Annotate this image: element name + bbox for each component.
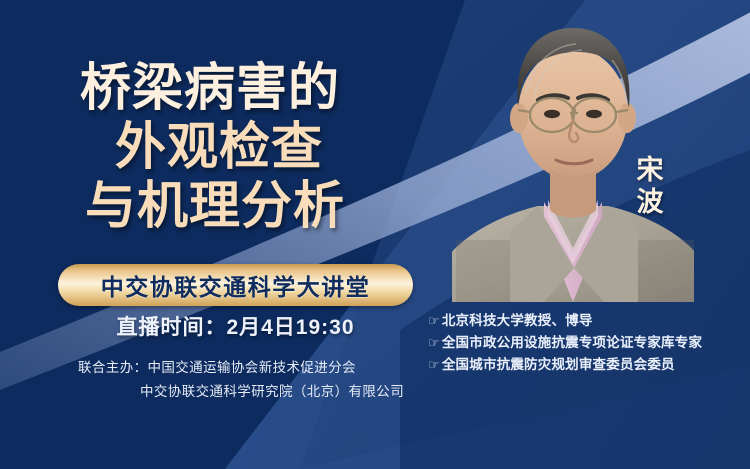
speaker-credentials: ☞ 北京科技大学教授、博导 ☞ 全国市政公用设施抗震专项论证专家库专家 ☞ 全国…	[428, 310, 746, 376]
credential-item: ☞ 北京科技大学教授、博导	[428, 310, 746, 332]
speaker-name-char-2: 波	[630, 187, 670, 219]
pointing-hand-icon: ☞	[428, 354, 440, 375]
series-badge: 中交协联交通科学大讲堂	[58, 264, 413, 306]
title-line-3: 与机理分析	[85, 180, 430, 231]
webinar-poster: 桥梁病害的 外观检查 与机理分析 中交协联交通科学大讲堂 直播时间：2月4日19…	[0, 0, 750, 469]
title-line-2: 外观检查	[115, 121, 430, 172]
title-line-1: 桥梁病害的	[80, 62, 430, 113]
speaker-name: 宋 波	[630, 155, 670, 219]
speaker-portrait-image	[452, 2, 694, 302]
credential-item: ☞ 全国城市抗震防灾规划审查委员会委员	[428, 354, 746, 376]
credential-text: 北京科技大学教授、博导	[442, 310, 593, 332]
speaker-name-char-1: 宋	[630, 155, 670, 187]
broadcast-time: 直播时间：2月4日19:30	[58, 311, 413, 341]
credential-text: 全国城市抗震防灾规划审查委员会委员	[442, 354, 675, 376]
organizer-line-1: 联合主办：中国交通运输协会新技术促进分会	[78, 356, 448, 380]
organizers-block: 联合主办：中国交通运输协会新技术促进分会 中交协联交通科学研究院（北京）有限公司	[78, 356, 448, 403]
credential-text: 全国市政公用设施抗震专项论证专家库专家	[442, 332, 702, 354]
pointing-hand-icon: ☞	[428, 310, 440, 331]
credential-item: ☞ 全国市政公用设施抗震专项论证专家库专家	[428, 332, 746, 354]
pointing-hand-icon: ☞	[428, 332, 440, 353]
poster-title: 桥梁病害的 外观检查 与机理分析	[0, 62, 430, 231]
organizer-line-2: 中交协联交通科学研究院（北京）有限公司	[78, 380, 448, 404]
speaker-portrait	[452, 2, 694, 302]
series-badge-label: 中交协联交通科学大讲堂	[101, 268, 371, 302]
